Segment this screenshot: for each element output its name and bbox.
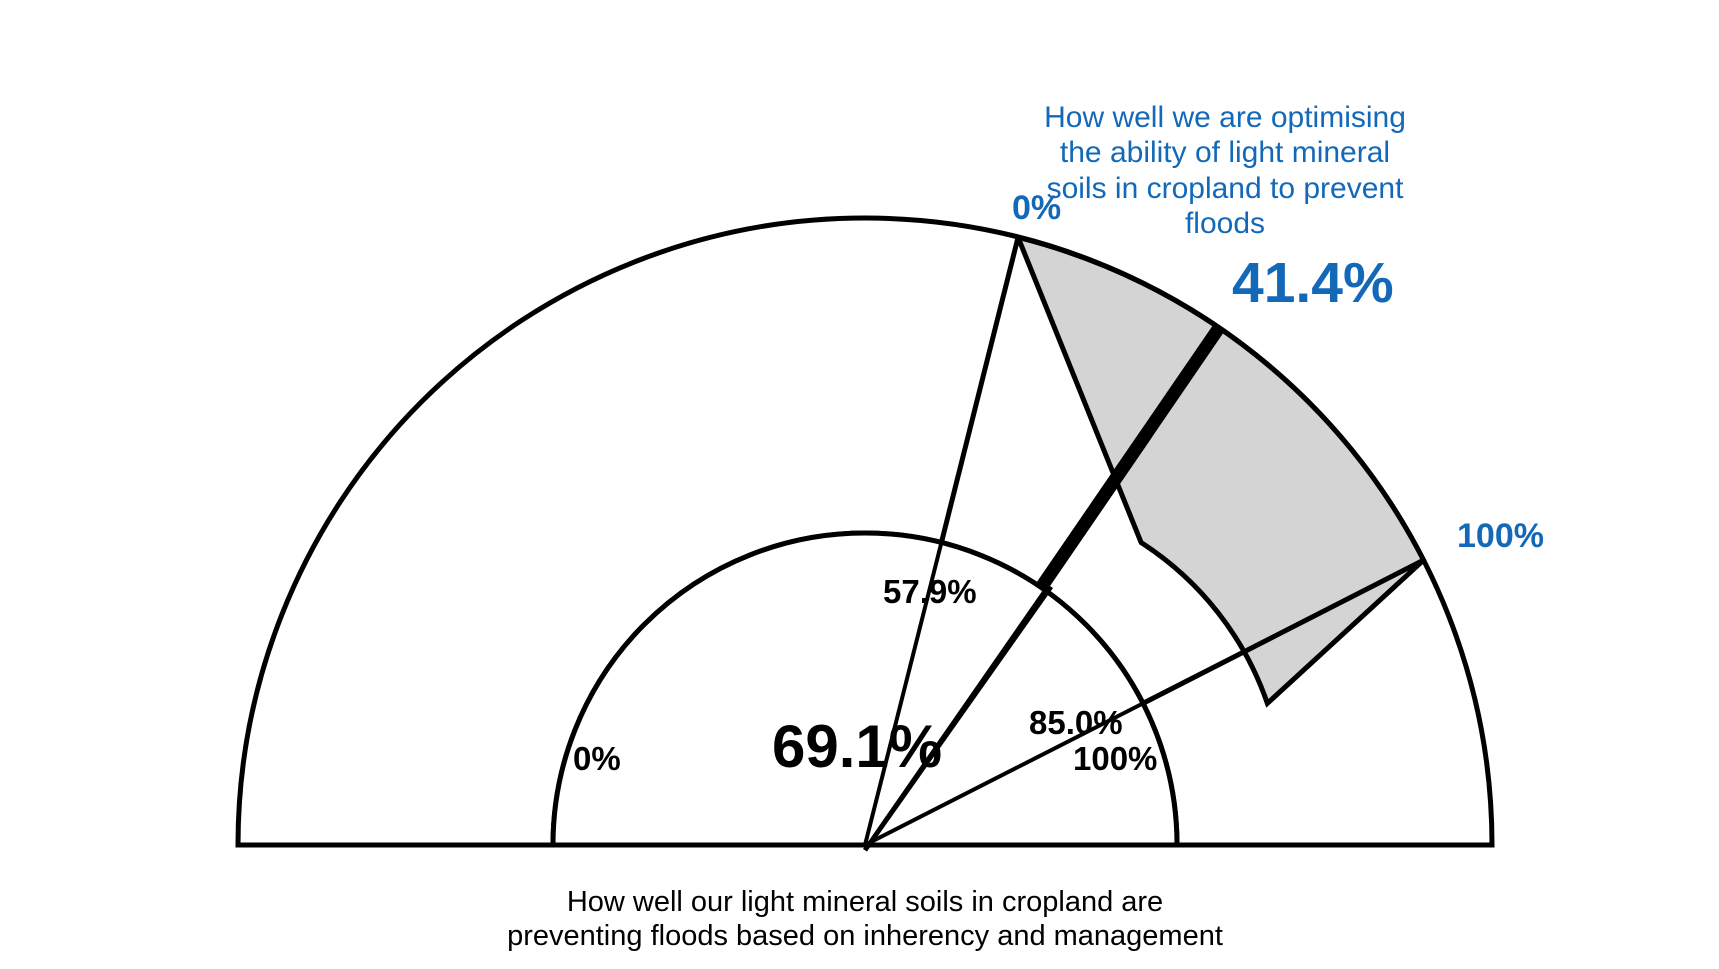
inner-gauge-value: 69.1% (772, 712, 942, 783)
gauge-chart-canvas: How well we are optimising the ability o… (0, 0, 1719, 969)
outer-gauge-min-label: 0% (1012, 188, 1061, 228)
dual-gauge-graphic (0, 0, 1719, 969)
inner-gauge-max-label: 100% (1073, 740, 1157, 779)
inner-gauge-min-label: 0% (573, 740, 621, 779)
inner-gauge-tick-low-label: 57.9% (883, 573, 977, 612)
outer-gauge-value: 41.4% (1232, 250, 1394, 317)
inner-gauge-tick-high-label: 85.0% (1029, 704, 1123, 743)
inner-gauge-caption: How well our light mineral soils in crop… (385, 885, 1345, 953)
outer-gauge-max-label: 100% (1457, 516, 1544, 556)
outer-gauge-caption: How well we are optimising the ability o… (1025, 100, 1425, 242)
